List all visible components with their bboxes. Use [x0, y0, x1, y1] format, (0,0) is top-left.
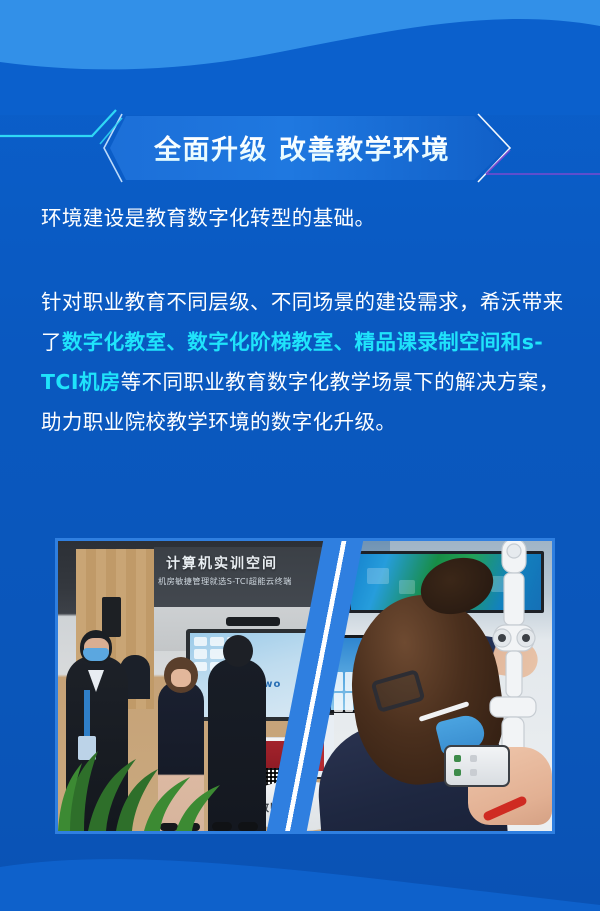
speaker-box: [102, 597, 121, 637]
body-copy: 环境建设是教育数字化转型的基础。 针对职业教育不同层级、不同场景的建设需求，希沃…: [41, 198, 565, 442]
display-chip-2: [399, 580, 415, 594]
soundbar: [226, 617, 280, 626]
photo-clip-region: 计算机实训空间 机房敏捷管理就选S-TCI超能云终端 seewo 教师电脑: [58, 541, 552, 831]
paragraph-2: 针对职业教育不同层级、不同场景的建设需求，希沃带来了数字化教室、数字化阶梯教室、…: [41, 282, 565, 442]
top-wave-decoration: [0, 0, 600, 115]
handheld-controller: [444, 745, 510, 787]
banner-shape: [0, 108, 600, 186]
person-man-back-head: [223, 635, 253, 667]
photo-collage: 计算机实训空间 机房敏捷管理就选S-TCI超能云终端 seewo 教师电脑: [55, 538, 555, 834]
booth-subline: 机房敏捷管理就选S-TCI超能云终端: [158, 575, 338, 587]
display-chip-1: [367, 568, 389, 584]
face-mask-icon: [83, 648, 109, 661]
booth-headline: 计算机实训空间: [166, 553, 338, 573]
person-man-front-shirt: [88, 670, 104, 692]
bottom-wave-decoration: [0, 821, 600, 911]
person-woman-face: [171, 669, 191, 687]
photo-robotics-lab: 云终端: [334, 541, 552, 831]
controller-key-4: [470, 769, 477, 776]
controller-key-3: [470, 755, 477, 762]
paragraph-1: 环境建设是教育数字化转型的基础。: [41, 198, 565, 238]
section-header-banner: 全面升级 改善教学环境: [0, 108, 600, 186]
controller-key-2: [454, 769, 461, 776]
controller-key-1: [454, 755, 461, 762]
foreground-plants: [58, 721, 248, 831]
paragraph-spacer: [41, 238, 565, 282]
